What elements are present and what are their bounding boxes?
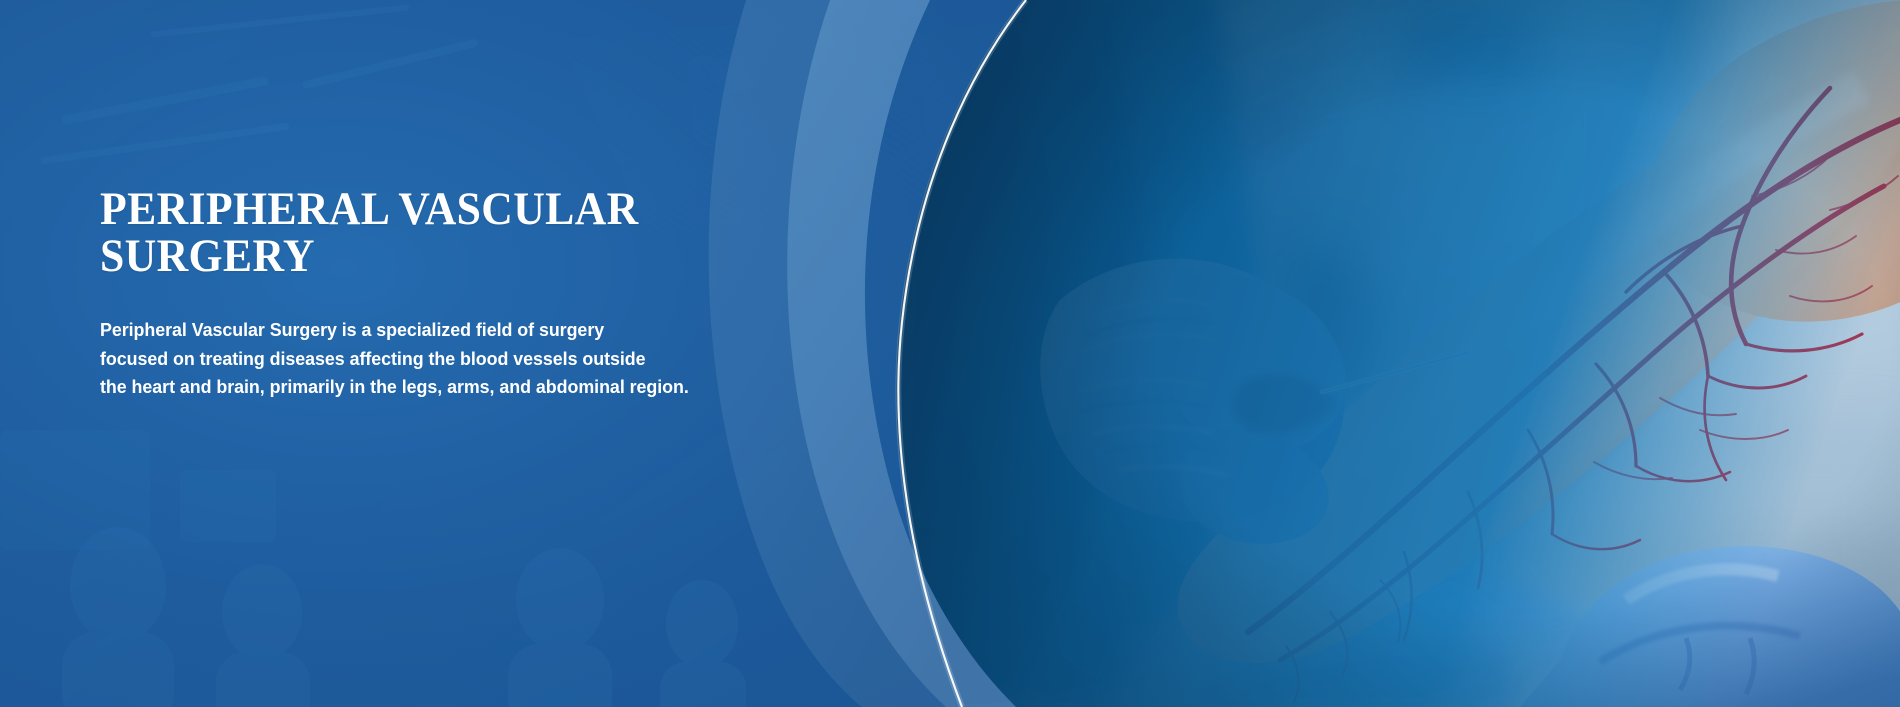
hero-description-line-3: the heart and brain, primarily in the le… [100, 373, 795, 402]
hero-copy-block: PERIPHERAL VASCULAR SURGERY Peripheral V… [100, 186, 820, 402]
page-title-line-1: PERIPHERAL VASCULAR [100, 183, 639, 235]
page-title-line-2: SURGERY [100, 233, 770, 280]
hero-description-line-1: Peripheral Vascular Surgery is a special… [100, 316, 795, 345]
hero-description-line-2: focused on treating diseases affecting t… [100, 345, 795, 374]
page-title: PERIPHERAL VASCULAR SURGERY [100, 186, 770, 280]
hero-description: Peripheral Vascular Surgery is a special… [100, 280, 795, 402]
hero-banner: PERIPHERAL VASCULAR SURGERY Peripheral V… [0, 0, 1900, 707]
